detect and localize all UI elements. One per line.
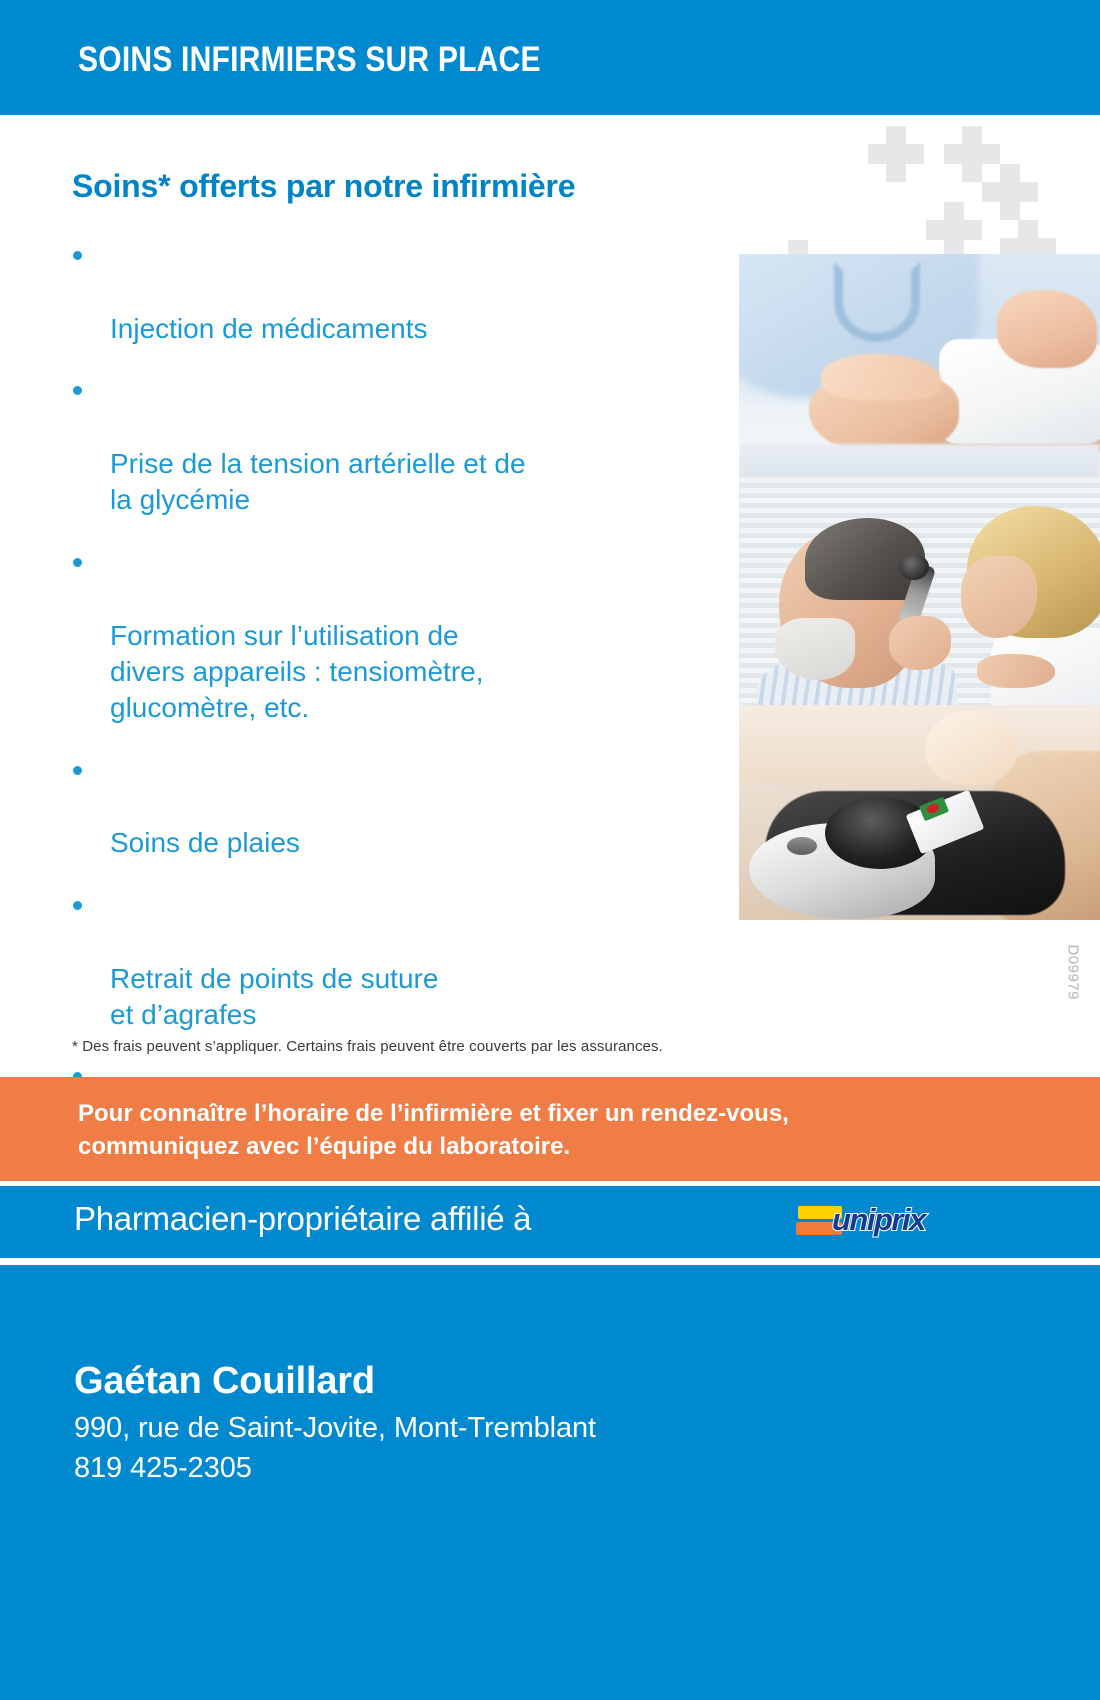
list-item: Soins de plaies xyxy=(68,753,708,862)
cta-text: Pour connaître l’horaire de l’infirmière… xyxy=(78,1097,1038,1163)
bullet-dot-icon xyxy=(73,901,82,910)
list-item-label: Prise de la tension artérielle et de la … xyxy=(110,448,526,515)
nurse-hand-shape xyxy=(997,290,1097,368)
affiliation-band: Pharmacien-propriétaire affilié à unipri… xyxy=(0,1186,1100,1258)
stethoscope-shape xyxy=(834,262,920,342)
nurse-second-hand-shape xyxy=(977,654,1055,688)
affiliation-label: Pharmacien-propriétaire affilié à xyxy=(74,1200,531,1238)
nurse-hand-shape xyxy=(889,616,951,670)
finger-shape xyxy=(925,711,1017,785)
otoscope-ear-examination-photo xyxy=(739,478,1100,705)
otoscope-head-icon xyxy=(899,554,929,580)
plus-cross-icon xyxy=(868,126,924,182)
cross-pattern-decoration xyxy=(850,126,1100,271)
bullet-dot-icon xyxy=(73,386,82,395)
bullet-dot-icon xyxy=(73,766,82,775)
page-title: SOINS INFIRMIERS SUR PLACE xyxy=(78,40,541,80)
list-item: Formation sur l’utilisation de divers ap… xyxy=(68,545,708,727)
table-surface-shape xyxy=(739,444,1100,478)
plus-cross-icon xyxy=(926,202,982,258)
list-item-label: Formation sur l’utilisation de divers ap… xyxy=(110,620,484,724)
list-item-label: Soins de plaies xyxy=(110,827,300,858)
fingers-shape xyxy=(821,354,941,400)
plus-cross-icon xyxy=(982,164,1038,220)
pharmacist-name: Gaétan Couillard xyxy=(74,1360,375,1403)
lead-heading: Soins* offerts par notre infirmière xyxy=(72,168,712,205)
divider-rule-bottom xyxy=(0,1258,1100,1265)
list-item: Prise de la tension artérielle et de la … xyxy=(68,373,708,519)
reference-code: D09979 xyxy=(1065,944,1082,1000)
glucometer-button-shape xyxy=(787,837,817,855)
glucometer-blood-test-photo xyxy=(739,705,1100,920)
plus-cross-icon xyxy=(944,126,1000,182)
footnote-text: * Des frais peuvent s’appliquer. Certain… xyxy=(72,1038,832,1055)
poster-root: SOINS INFIRMIERS SUR PLACE Soins* offert… xyxy=(0,0,1100,1700)
list-item: Retrait de points de suture et d’agrafes xyxy=(68,888,708,1034)
uniprix-logo: uniprix xyxy=(796,1202,948,1240)
list-item: Injection de médicaments xyxy=(68,238,708,347)
bullet-dot-icon xyxy=(73,251,82,260)
bullet-dot-icon xyxy=(73,558,82,567)
nurse-bandaging-wrist-photo xyxy=(739,254,1100,478)
list-item-label: Injection de médicaments xyxy=(110,313,428,344)
header-band: SOINS INFIRMIERS SUR PLACE xyxy=(0,0,1100,115)
cta-band: Pour connaître l’horaire de l’infirmière… xyxy=(0,1077,1100,1181)
contact-phone: 819 425-2305 xyxy=(74,1452,252,1485)
contact-address: 990, rue de Saint-Jovite, Mont-Tremblant xyxy=(74,1412,596,1445)
list-item-label: Retrait de points de suture et d’agrafes xyxy=(110,963,438,1030)
uniprix-wordmark: uniprix xyxy=(832,1202,925,1238)
